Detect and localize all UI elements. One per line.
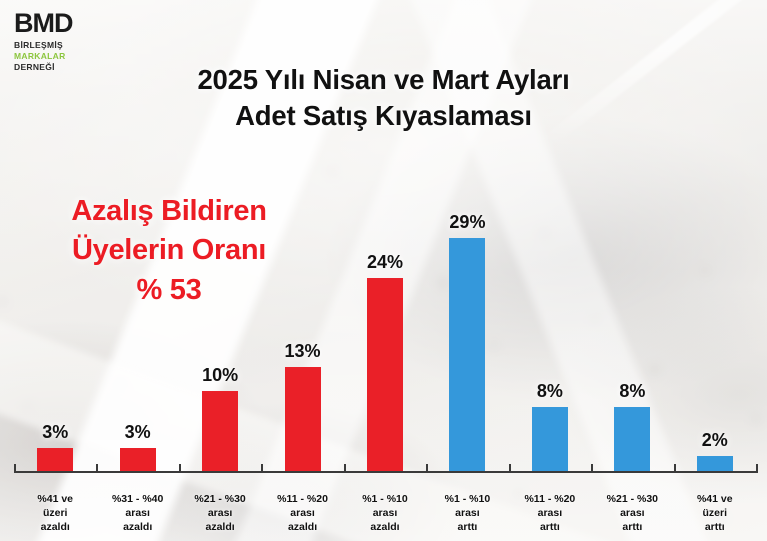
logo-subtitle-line-1: BİRLEŞMİŞ bbox=[14, 40, 73, 51]
bar-rect bbox=[367, 278, 403, 472]
x-axis-category-label: %11 - %20 arası arttı bbox=[509, 493, 591, 535]
decline-callout-line-2: Üyelerin Oranı bbox=[38, 231, 300, 270]
x-axis-tick bbox=[96, 464, 98, 473]
bar-rect bbox=[202, 391, 238, 472]
bar-rect bbox=[614, 407, 650, 472]
bar-value-label: 8% bbox=[619, 381, 645, 402]
x-axis-tick bbox=[756, 464, 758, 473]
bar: 24% bbox=[367, 278, 403, 472]
bar: 29% bbox=[449, 238, 485, 472]
bar-value-label: 2% bbox=[702, 430, 728, 451]
page-title-line-2: Adet Satış Kıyaslaması bbox=[0, 98, 767, 134]
x-axis-tick bbox=[426, 464, 428, 473]
x-axis-category-label: %31 - %40 arası azaldı bbox=[96, 493, 178, 535]
bar: 3% bbox=[37, 448, 73, 472]
x-axis-tick bbox=[509, 464, 511, 473]
page-title-line-1: 2025 Yılı Nisan ve Mart Ayları bbox=[0, 62, 767, 98]
bar-value-label: 24% bbox=[367, 252, 403, 273]
x-axis-category-label: %21 - %30 arası arttı bbox=[591, 493, 673, 535]
bar-rect bbox=[449, 238, 485, 472]
x-axis-line bbox=[14, 471, 756, 473]
decline-callout: Azalış Bildiren Üyelerin Oranı % 53 bbox=[38, 192, 300, 310]
x-axis-category-label: %41 ve üzeri arttı bbox=[674, 493, 756, 535]
x-axis-category-label: %11 - %20 arası azaldı bbox=[261, 493, 343, 535]
bar: 3% bbox=[120, 448, 156, 472]
bar-rect bbox=[285, 367, 321, 472]
x-axis-tick bbox=[674, 464, 676, 473]
x-axis-tick bbox=[591, 464, 593, 473]
logo-subtitle-line-2: MARKALAR bbox=[14, 51, 73, 62]
x-axis-tick bbox=[14, 464, 16, 473]
bar-value-label: 10% bbox=[202, 365, 238, 386]
bar-value-label: 13% bbox=[285, 341, 321, 362]
bar-value-label: 29% bbox=[449, 212, 485, 233]
x-axis-category-label: %1 - %10 arası azaldı bbox=[344, 493, 426, 535]
bar: 13% bbox=[285, 367, 321, 472]
bar: 10% bbox=[202, 391, 238, 472]
bar-rect bbox=[697, 456, 733, 472]
x-axis-tick bbox=[179, 464, 181, 473]
decline-callout-line-1: Azalış Bildiren bbox=[38, 192, 300, 231]
bar-rect bbox=[532, 407, 568, 472]
x-axis-tick bbox=[261, 464, 263, 473]
page-title: 2025 Yılı Nisan ve Mart Ayları Adet Satı… bbox=[0, 62, 767, 135]
bar: 2% bbox=[697, 456, 733, 472]
bar-value-label: 8% bbox=[537, 381, 563, 402]
bar-rect bbox=[120, 448, 156, 472]
x-axis-category-label: %1 - %10 arası arttı bbox=[426, 493, 508, 535]
x-axis-tick bbox=[344, 464, 346, 473]
decline-callout-value: % 53 bbox=[38, 271, 300, 310]
bar-value-label: 3% bbox=[42, 422, 68, 443]
bar-value-label: 3% bbox=[125, 422, 151, 443]
x-axis-category-label: %41 ve üzeri azaldı bbox=[14, 493, 96, 535]
bar: 8% bbox=[614, 407, 650, 472]
x-axis-category-label: %21 - %30 arası azaldı bbox=[179, 493, 261, 535]
bar: 8% bbox=[532, 407, 568, 472]
bar-rect bbox=[37, 448, 73, 472]
logo-mark: BMD bbox=[14, 10, 73, 37]
